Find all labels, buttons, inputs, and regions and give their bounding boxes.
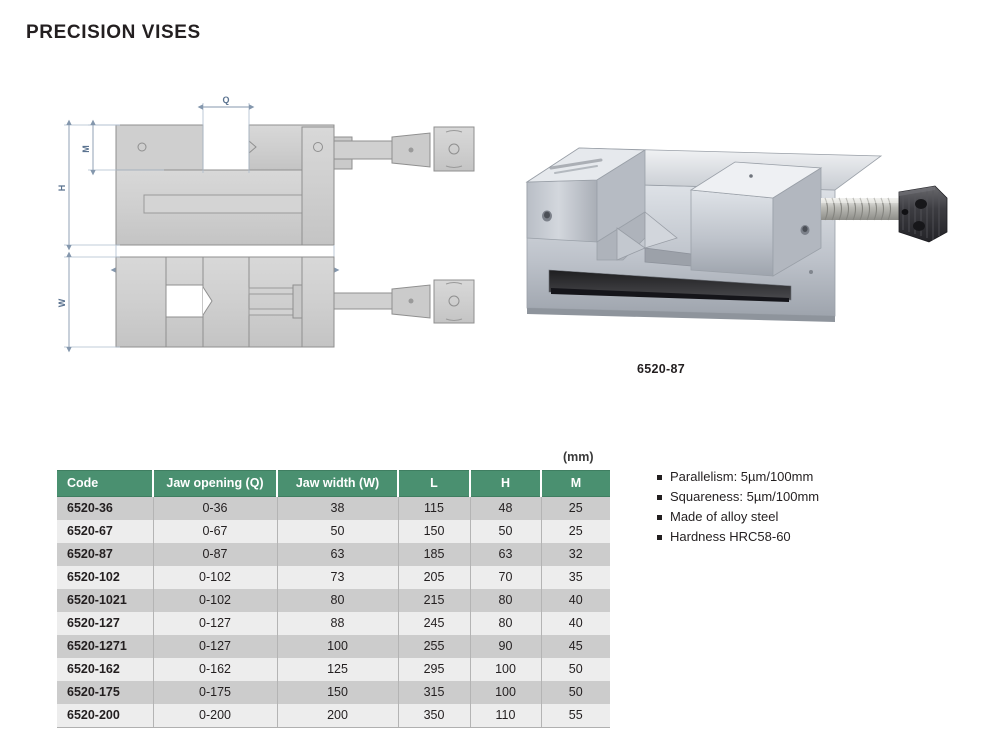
dimension-label-h: H [57,185,67,192]
cell-m: 45 [541,635,610,658]
feature-item: Parallelism: 5µm/100mm [657,468,977,486]
cell-m: 35 [541,566,610,589]
adjustment-knob [899,186,947,242]
feature-list: Parallelism: 5µm/100mmSquareness: 5µm/10… [657,468,977,548]
technical-drawing: Q H M L [44,85,504,370]
cell-code: 6520-87 [57,543,153,566]
column-header-l: L [398,471,470,497]
cell-m: 40 [541,589,610,612]
table-row: 6520-1020-102732057035 [57,566,610,589]
cell-l: 295 [398,658,470,681]
feature-text: Parallelism: 5µm/100mm [670,468,813,486]
column-header-m: M [541,471,610,497]
dimension-label-q: Q [222,95,229,105]
cell-code: 6520-1271 [57,635,153,658]
cell-h: 70 [470,566,541,589]
cell-jaw-width: 100 [277,635,398,658]
cell-l: 255 [398,635,470,658]
product-photo [505,120,975,335]
square-bullet-icon [657,475,662,480]
cell-h: 50 [470,520,541,543]
table-row: 6520-670-67501505025 [57,520,610,543]
table-row: 6520-10210-102802158040 [57,589,610,612]
feature-text: Hardness HRC58-60 [670,528,791,546]
cell-l: 245 [398,612,470,635]
cell-code: 6520-102 [57,566,153,589]
table-row: 6520-12710-1271002559045 [57,635,610,658]
cell-jaw-opening: 0-87 [153,543,277,566]
cell-h: 90 [470,635,541,658]
cell-jaw-width: 125 [277,658,398,681]
cell-jaw-width: 73 [277,566,398,589]
table-row: 6520-1620-16212529510050 [57,658,610,681]
cell-l: 205 [398,566,470,589]
cell-jaw-opening: 0-127 [153,612,277,635]
cell-jaw-width: 88 [277,612,398,635]
cell-h: 48 [470,497,541,521]
cell-code: 6520-200 [57,704,153,728]
cell-m: 55 [541,704,610,728]
cell-h: 100 [470,681,541,704]
cell-code: 6520-127 [57,612,153,635]
table-row: 6520-1750-17515031510050 [57,681,610,704]
table-header-row: Code Jaw opening (Q) Jaw width (W) L H M [57,471,610,497]
table-row: 6520-2000-20020035011055 [57,704,610,728]
cell-h: 80 [470,589,541,612]
cell-jaw-opening: 0-162 [153,658,277,681]
table-row: 6520-870-87631856332 [57,543,610,566]
lead-screw [821,198,899,220]
cell-jaw-opening: 0-175 [153,681,277,704]
cell-h: 110 [470,704,541,728]
dimension-label-w: W [57,298,67,307]
cell-l: 185 [398,543,470,566]
column-header-code: Code [57,471,153,497]
cell-jaw-opening: 0-67 [153,520,277,543]
drawing-side-view: Q H M L [57,95,474,275]
specification-table: Code Jaw opening (Q) Jaw width (W) L H M… [57,470,610,728]
cell-jaw-opening: 0-102 [153,589,277,612]
cell-jaw-width: 38 [277,497,398,521]
feature-item: Made of alloy steel [657,508,977,526]
cell-m: 25 [541,497,610,521]
cell-h: 63 [470,543,541,566]
cell-jaw-width: 200 [277,704,398,728]
cell-jaw-opening: 0-36 [153,497,277,521]
column-header-jaw-opening: Jaw opening (Q) [153,471,277,497]
cell-code: 6520-162 [57,658,153,681]
feature-text: Made of alloy steel [670,508,778,526]
table-units-note: (mm) [563,450,594,464]
page-title: PRECISION VISES [26,22,201,44]
cell-jaw-opening: 0-200 [153,704,277,728]
drawing-top-view: W [57,257,474,347]
cell-code: 6520-175 [57,681,153,704]
feature-item: Squareness: 5µm/100mm [657,488,977,506]
cell-m: 40 [541,612,610,635]
cell-m: 50 [541,658,610,681]
cell-code: 6520-67 [57,520,153,543]
feature-text: Squareness: 5µm/100mm [670,488,819,506]
cell-l: 115 [398,497,470,521]
cell-jaw-width: 63 [277,543,398,566]
cell-l: 215 [398,589,470,612]
cell-m: 25 [541,520,610,543]
cell-m: 32 [541,543,610,566]
square-bullet-icon [657,495,662,500]
cell-l: 350 [398,704,470,728]
cell-code: 6520-36 [57,497,153,521]
cell-jaw-width: 80 [277,589,398,612]
cell-l: 150 [398,520,470,543]
feature-item: Hardness HRC58-60 [657,528,977,546]
cell-m: 50 [541,681,610,704]
square-bullet-icon [657,535,662,540]
column-header-jaw-width: Jaw width (W) [277,471,398,497]
dimension-label-m: M [81,145,91,153]
cell-l: 315 [398,681,470,704]
table-row: 6520-1270-127882458040 [57,612,610,635]
cell-code: 6520-1021 [57,589,153,612]
cell-jaw-opening: 0-127 [153,635,277,658]
cell-h: 80 [470,612,541,635]
cell-jaw-width: 150 [277,681,398,704]
cell-h: 100 [470,658,541,681]
table-row: 6520-360-36381154825 [57,497,610,521]
table-body: 6520-360-363811548256520-670-67501505025… [57,497,610,728]
square-bullet-icon [657,515,662,520]
column-header-h: H [470,471,541,497]
product-photo-caption: 6520-87 [637,362,685,376]
cell-jaw-opening: 0-102 [153,566,277,589]
cell-jaw-width: 50 [277,520,398,543]
